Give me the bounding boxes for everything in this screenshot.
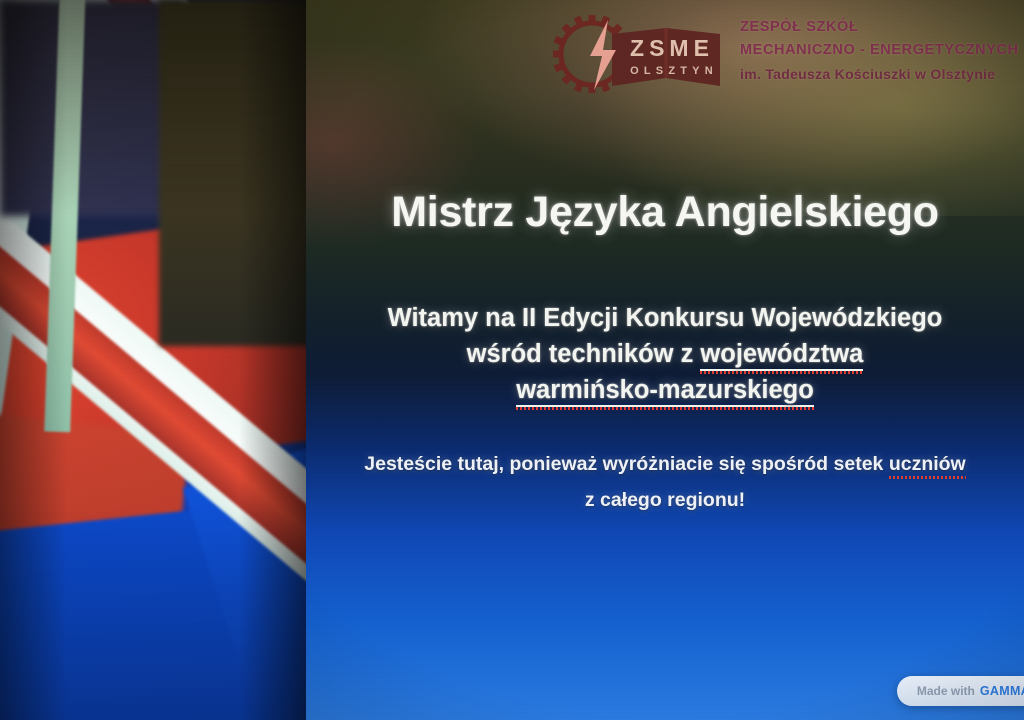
misspelled-word-uczniow: uczniów	[889, 453, 966, 476]
subtitle-line-2: wśród techników z województwa	[306, 336, 1024, 372]
misspelled-word-wojewodztwa: województwa	[700, 340, 863, 371]
subtitle-line-3: warmińsko-mazurskiego	[306, 372, 1024, 408]
presentation-slide: ZSME OLSZTYN ZESPÓŁ SZKÓŁ MECHANICZNO - …	[0, 0, 1024, 720]
union-jack-flag-photo	[0, 0, 306, 720]
body-line-1-prefix: Jesteście tutaj, ponieważ wyróżniacie si…	[364, 453, 889, 475]
school-name-text: ZESPÓŁ SZKÓŁ MECHANICZNO - ENERGETYCZNYC…	[740, 8, 1019, 86]
slide-content-panel: ZSME OLSZTYN ZESPÓŁ SZKÓŁ MECHANICZNO - …	[306, 0, 1024, 720]
zsme-olsztyn-logo: ZSME OLSZTYN	[550, 8, 726, 100]
school-name-line-2: MECHANICZNO - ENERGETYCZNYCH	[740, 39, 1019, 62]
page-title: Mistrz Języka Angielskiego	[306, 188, 1024, 237]
body-paragraph: Jesteście tutaj, ponieważ wyróżniacie si…	[306, 446, 1024, 518]
misspelled-word-warminsko-mazurskiego: warmińsko-mazurskiego	[516, 376, 814, 407]
logo-city: OLSZTYN	[630, 65, 718, 77]
gamma-brand-label: GAMMA	[980, 684, 1024, 698]
made-with-label: Made with	[917, 684, 975, 698]
flag-shadow-overlay	[0, 0, 306, 720]
made-with-gamma-badge[interactable]: Made with GAMMA	[897, 676, 1024, 706]
subtitle-line-2-prefix: wśród techników z	[467, 340, 701, 368]
subtitle-block: Witamy na II Edycji Konkursu Wojewódzkie…	[306, 300, 1024, 409]
zsme-logo-graphic: ZSME OLSZTYN	[550, 8, 726, 100]
logo-acronym: ZSME	[630, 35, 714, 61]
school-logo-block: ZSME OLSZTYN ZESPÓŁ SZKÓŁ MECHANICZNO - …	[550, 8, 1019, 100]
school-name-line-1: ZESPÓŁ SZKÓŁ	[740, 16, 1019, 39]
body-line-1: Jesteście tutaj, ponieważ wyróżniacie si…	[306, 446, 1024, 482]
school-patron-line: im. Tadeusza Kościuszki w Olsztynie	[740, 63, 1019, 86]
body-line-2: z całego regionu!	[306, 482, 1024, 518]
subtitle-line-1: Witamy na II Edycji Konkursu Wojewódzkie…	[306, 300, 1024, 336]
